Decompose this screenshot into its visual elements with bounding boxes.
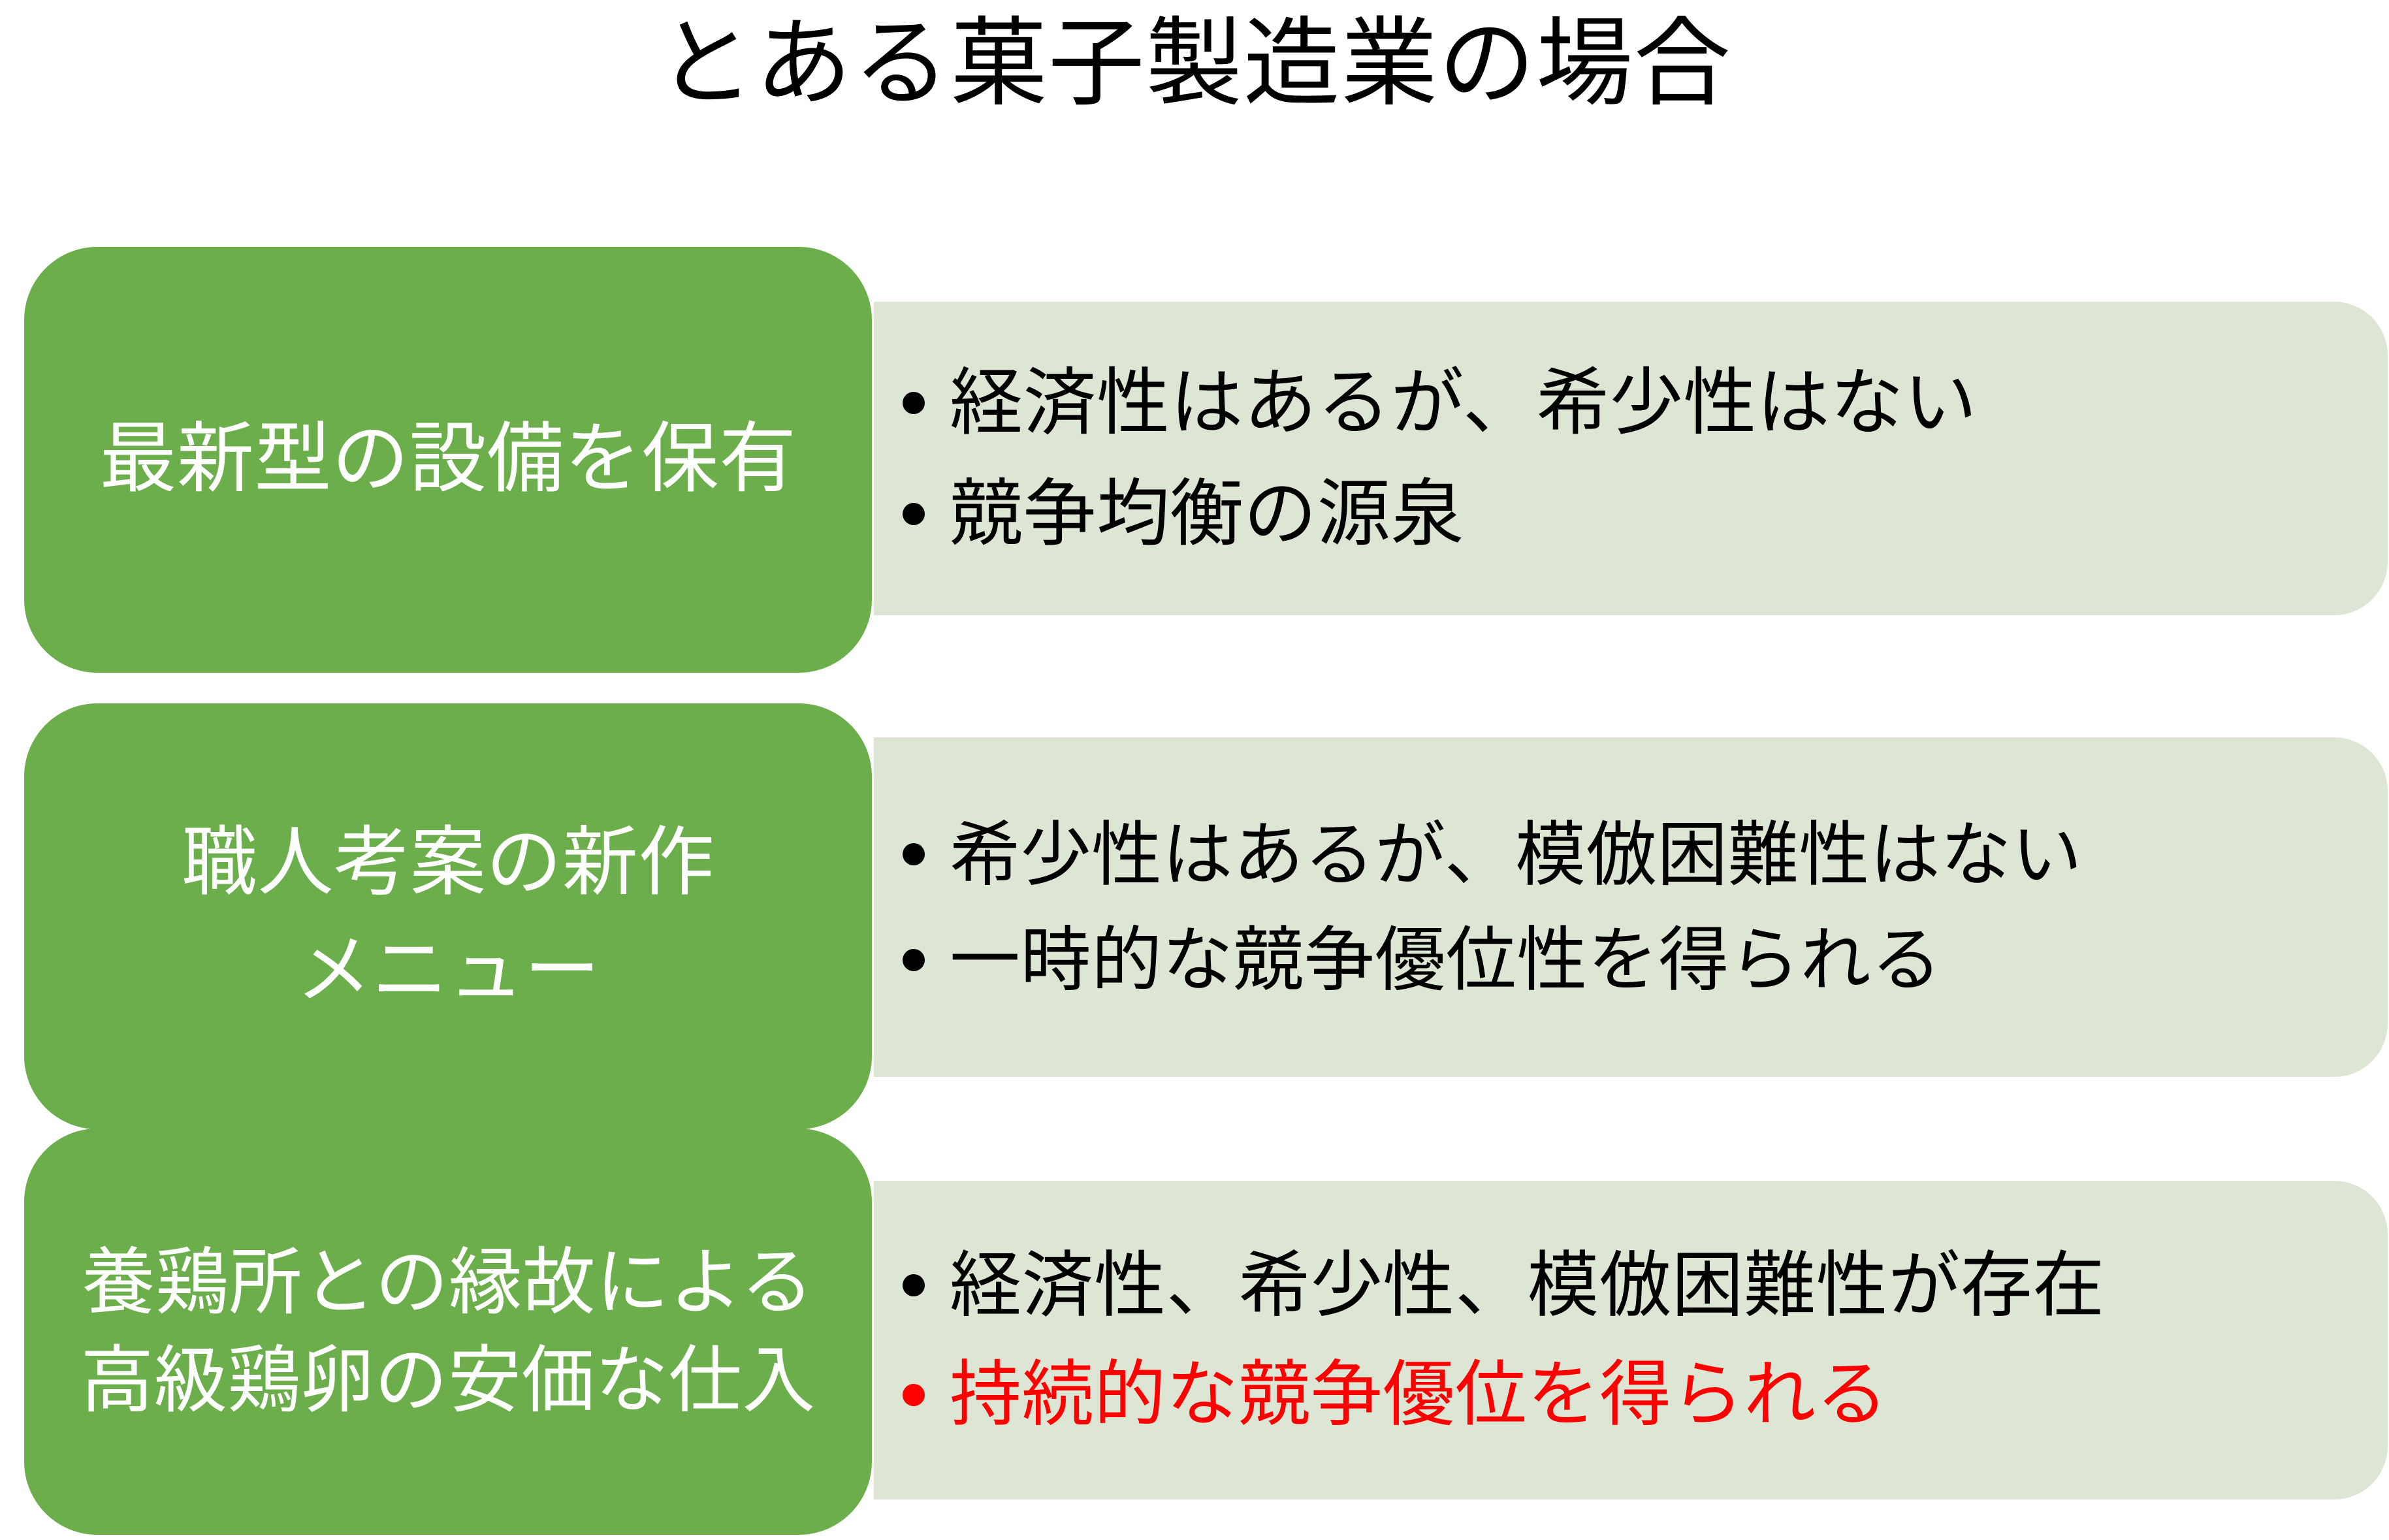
bullet-panel-1: 経済性はあるが、希少性はない 競争均衡の源泉 — [874, 302, 2388, 615]
bullet-text: 経済性、希少性、模倣困難性が存在 — [950, 1248, 2105, 1324]
bullet-item: 競争均衡の源泉 — [903, 475, 2375, 553]
bullet-dot-icon — [903, 1384, 925, 1406]
resource-box-3[interactable]: 養鶏所との縁故による 高級鶏卵の安価な仕入 — [24, 1129, 872, 1535]
bullet-text: 経済性はあるが、希少性はない — [950, 364, 1978, 441]
resource-box-1[interactable]: 最新型の設備を保有 — [24, 247, 872, 673]
resource-label-2: 職人考案の新作 メニュー — [182, 809, 714, 1023]
bullet-text: 一時的な競争優位性を得られる — [950, 923, 1942, 997]
resource-box-2[interactable]: 職人考案の新作 メニュー — [24, 703, 872, 1129]
bullet-item: 一時的な競争優位性を得られる — [903, 923, 2375, 997]
resource-label-3: 養鶏所との縁故による 高級鶏卵の安価な仕入 — [80, 1234, 816, 1430]
bullet-item: 希少性はあるが、模倣困難性はない — [903, 818, 2375, 891]
bullet-text: 希少性はあるが、模倣困難性はない — [950, 818, 2082, 891]
bullet-item-highlighted: 持続的な競争優位を得られる — [903, 1357, 2375, 1433]
bullet-dot-icon — [903, 503, 925, 525]
bullet-dot-icon — [903, 1274, 925, 1296]
vrio-row-1: 最新型の設備を保有 経済性はあるが、希少性はない 競争均衡の源泉 — [0, 247, 2389, 673]
bullet-text: 競争均衡の源泉 — [950, 475, 1464, 553]
bullet-dot-icon — [903, 949, 925, 971]
vrio-rows: 最新型の設備を保有 経済性はあるが、希少性はない 競争均衡の源泉 職人考案の新作… — [0, 0, 2389, 1540]
vrio-row-3: 養鶏所との縁故による 高級鶏卵の安価な仕入 経済性、希少性、模倣困難性が存在 持… — [0, 1129, 2389, 1535]
bullet-item: 経済性はあるが、希少性はない — [903, 364, 2375, 441]
vrio-row-2: 職人考案の新作 メニュー 希少性はあるが、模倣困難性はない 一時的な競争優位性を… — [0, 703, 2389, 1129]
resource-label-1: 最新型の設備を保有 — [99, 409, 796, 509]
bullet-panel-2: 希少性はあるが、模倣困難性はない 一時的な競争優位性を得られる — [874, 737, 2388, 1077]
bullet-text-highlighted: 持続的な競争優位を得られる — [950, 1357, 1888, 1433]
bullet-panel-3: 経済性、希少性、模倣困難性が存在 持続的な競争優位を得られる — [874, 1181, 2388, 1500]
bullet-dot-icon — [903, 843, 925, 865]
bullet-dot-icon — [903, 392, 925, 414]
bullet-item: 経済性、希少性、模倣困難性が存在 — [903, 1248, 2375, 1324]
